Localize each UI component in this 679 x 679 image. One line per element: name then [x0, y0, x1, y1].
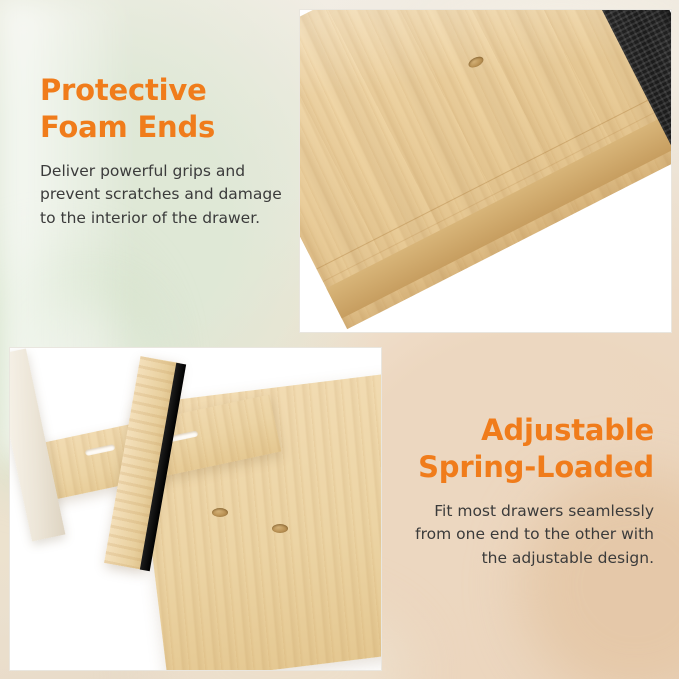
feature-bottom-body: Fit most drawers seamlessly from one end…	[396, 500, 654, 570]
bamboo-board-photo	[299, 9, 672, 333]
feature-top-body: Deliver powerful grips and prevent scrat…	[40, 160, 286, 230]
feature-top-text: Protective Foam Ends Deliver powerful gr…	[40, 72, 286, 230]
feature-bottom-headline: Adjustable Spring-Loaded	[396, 412, 654, 486]
divider-assembly-photo	[9, 347, 382, 671]
feature-bottom-text: Adjustable Spring-Loaded Fit most drawer…	[396, 412, 654, 570]
product-feature-poster: Protective Foam Ends Deliver powerful gr…	[0, 0, 679, 679]
feature-bottom-headline-line1: Adjustable	[481, 413, 654, 447]
feature-bottom-image-panel	[9, 347, 382, 671]
feature-top-image-panel	[299, 9, 672, 333]
feature-top-headline-line1: Protective	[40, 73, 207, 107]
screw-hole-icon	[212, 508, 228, 517]
feature-top-headline: Protective Foam Ends	[40, 72, 286, 146]
screw-hole-icon	[272, 524, 288, 533]
rail-slot	[85, 444, 116, 456]
feature-bottom-headline-line2: Spring-Loaded	[396, 449, 654, 486]
feature-top-headline-line2: Foam Ends	[40, 109, 286, 146]
